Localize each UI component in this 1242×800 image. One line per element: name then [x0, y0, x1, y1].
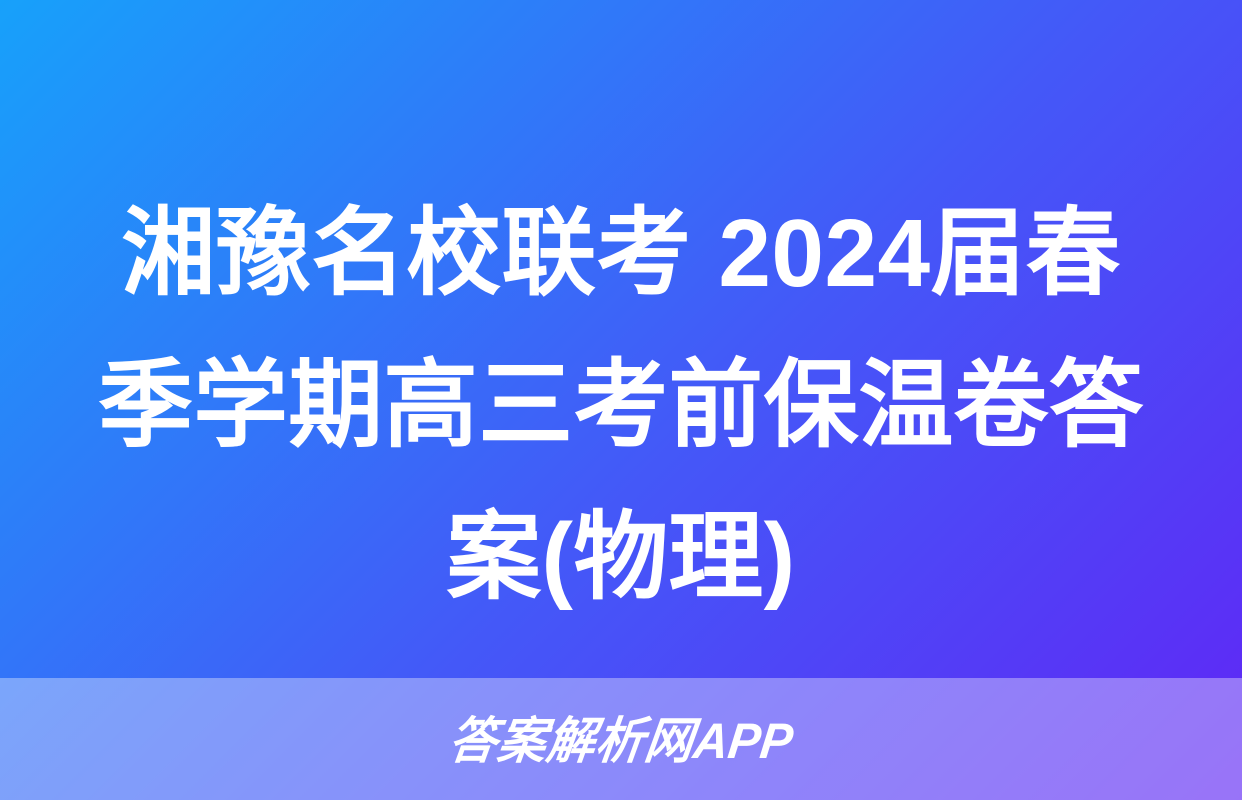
- title-line-2: 季学期高三考前保温卷答: [70, 330, 1171, 482]
- app-watermark-cn: 答案解析网: [446, 713, 698, 769]
- app-watermark: 答案解析网APP: [446, 716, 796, 766]
- page-title: 湘豫名校联考 2024届春 季学期高三考前保温卷答 案(物理): [0, 178, 1242, 630]
- title-line-3: 案(物理): [70, 482, 1171, 634]
- footer-watermark-band: 答案解析网APP: [0, 678, 1242, 800]
- answer-poster-card: 湘豫名校联考 2024届春 季学期高三考前保温卷答 案(物理) 答案解析网APP: [0, 0, 1242, 800]
- app-watermark-en: APP: [691, 713, 797, 769]
- title-line-1: 湘豫名校联考 2024届春: [70, 178, 1171, 330]
